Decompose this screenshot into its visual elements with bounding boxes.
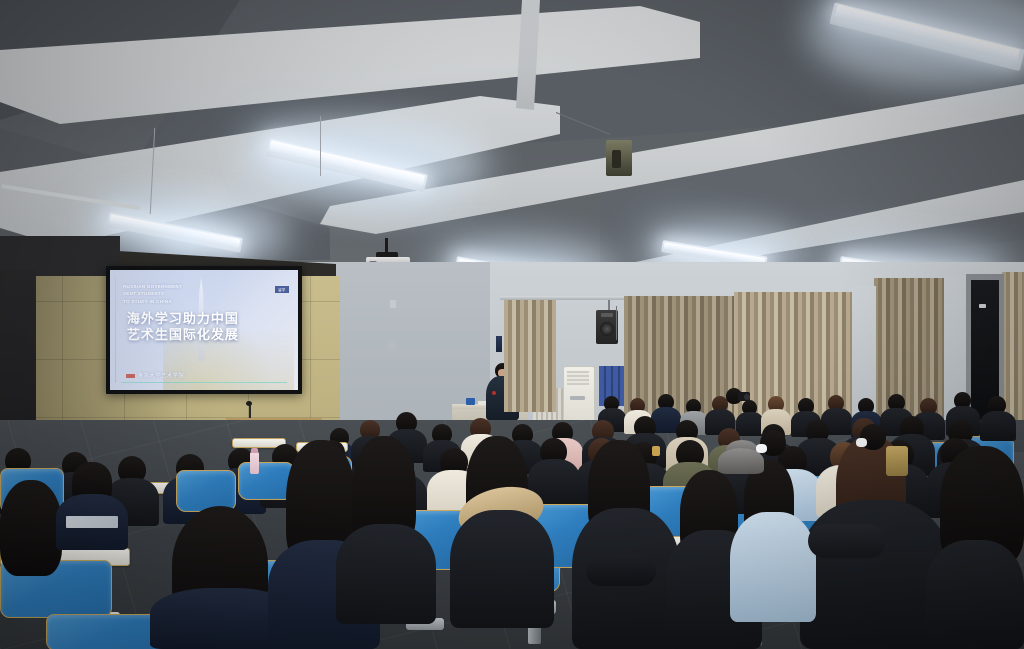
audience-arm bbox=[808, 524, 886, 558]
audience-body-foreground bbox=[730, 512, 816, 622]
presenter-badge bbox=[492, 391, 496, 395]
air-conditioner-badge bbox=[570, 396, 585, 400]
lecture-hall-photo: RUSSIAN GOVERNMENT SENT STUDENTS TO STUD… bbox=[0, 0, 1024, 649]
audience-arm bbox=[586, 556, 656, 586]
ceiling-wire-right bbox=[320, 116, 321, 176]
projection-screen[interactable]: RUSSIAN GOVERNMENT SENT STUDENTS TO STUD… bbox=[110, 270, 298, 390]
audience-body-foreground bbox=[336, 524, 436, 624]
wall-speaker-tweeter bbox=[601, 313, 613, 317]
water-bottle[interactable] bbox=[250, 452, 259, 474]
audience-body bbox=[736, 412, 764, 436]
audience-body bbox=[980, 411, 1016, 441]
wall-notice-left bbox=[388, 340, 396, 350]
wall-speaker-cone bbox=[600, 322, 614, 336]
audience-body-foreground bbox=[450, 510, 554, 628]
face-mask-icon bbox=[756, 444, 767, 453]
projection-screen-frame: RUSSIAN GOVERNMENT SENT STUDENTS TO STUD… bbox=[106, 266, 302, 394]
door-highlight bbox=[979, 304, 986, 308]
hair-claw-clip-icon bbox=[886, 446, 908, 476]
audience-body-foreground bbox=[926, 540, 1024, 649]
wall-outlet bbox=[390, 300, 396, 308]
jacket-logo-text bbox=[66, 516, 118, 528]
curtain-left bbox=[504, 300, 556, 412]
hair-clip-icon bbox=[652, 446, 660, 456]
wall-speaker-cable bbox=[616, 306, 617, 340]
audience-head-foreground bbox=[0, 480, 62, 576]
wall-camera-lens bbox=[612, 150, 621, 168]
camera-lens-icon bbox=[744, 394, 750, 400]
water-bottle-cap bbox=[251, 448, 258, 453]
desk-object-blue bbox=[466, 398, 475, 405]
face-mask-icon bbox=[856, 438, 867, 447]
screen-glare bbox=[110, 270, 298, 390]
wall-flag bbox=[496, 336, 502, 352]
podium-microphone-head bbox=[246, 401, 252, 406]
air-conditioner-vent bbox=[567, 371, 589, 385]
